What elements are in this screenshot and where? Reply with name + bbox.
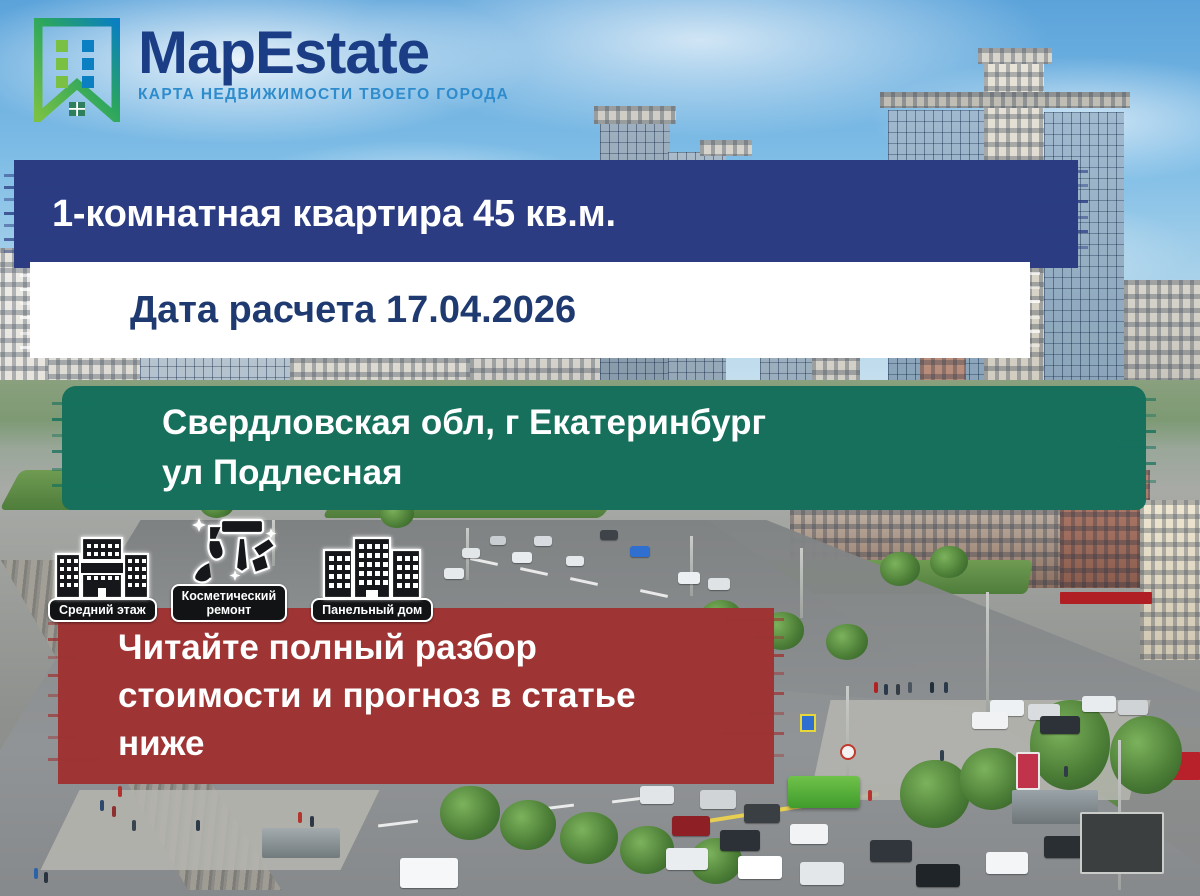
pedestrian	[132, 820, 136, 831]
street-lamp	[800, 548, 803, 618]
pedestrian	[940, 750, 944, 761]
cta-line-2: стоимости и прогноз в статье	[118, 672, 784, 720]
cta-line-1: Читайте полный разбор	[118, 624, 784, 672]
car	[444, 568, 464, 579]
car	[870, 840, 912, 862]
pedestrian	[34, 868, 38, 879]
ad-pillar	[1016, 752, 1040, 790]
car	[630, 546, 650, 557]
car	[1040, 716, 1080, 734]
cta-banner[interactable]: Читайте полный разбор стоимости и прогно…	[48, 608, 784, 784]
pedestrian	[884, 684, 888, 695]
pedestrian	[944, 682, 948, 693]
pedestrian	[908, 682, 912, 693]
brand-name: MapEstate	[138, 24, 509, 82]
title-banner-text: 1-комнатная квартира 45 кв.м.	[4, 193, 1088, 236]
pedestrian	[1064, 766, 1068, 777]
brand-logo-text: MapEstate КАРТА НЕДВИЖИМОСТИ ТВОЕГО ГОРО…	[138, 24, 509, 104]
building-center-roofbox	[700, 140, 752, 156]
tree	[560, 812, 618, 864]
digital-billboard	[1080, 812, 1164, 874]
feature-badges: Средний этаж К	[48, 512, 433, 622]
pedestrian-sign-icon	[800, 714, 816, 732]
car	[790, 824, 828, 844]
pedestrian	[896, 684, 900, 695]
building-right-roof-slab	[880, 92, 1130, 108]
car	[738, 856, 782, 879]
car	[1082, 696, 1116, 712]
bookmark-building-icon	[34, 18, 120, 122]
car	[672, 816, 710, 836]
car	[972, 712, 1008, 729]
buildings-icon	[50, 532, 154, 604]
truck	[400, 858, 458, 888]
car	[800, 862, 844, 885]
car	[666, 848, 708, 870]
building-center-cap	[594, 106, 676, 124]
pedestrian	[118, 786, 122, 797]
car	[490, 536, 506, 545]
car	[708, 578, 730, 590]
badge-label-line-1: Косметический	[182, 589, 277, 603]
pedestrian	[298, 812, 302, 823]
badge-label-line-2: ремонт	[182, 603, 277, 617]
car	[512, 552, 532, 563]
car	[534, 536, 552, 546]
cta-banner-text: Читайте полный разбор стоимости и прогно…	[48, 624, 784, 769]
tree	[500, 800, 556, 850]
car	[462, 548, 480, 558]
cta-line-3: ниже	[118, 720, 784, 768]
pedestrian	[310, 816, 314, 827]
bus-shelter	[262, 828, 340, 858]
badge-panelnyj-dom[interactable]: Панельный дом	[311, 532, 433, 622]
address-banner-text: Свердловская обл, г Екатеринбург ул Подл…	[52, 398, 1156, 497]
badge-srednij-etazh[interactable]: Средний этаж	[48, 532, 157, 622]
tree	[440, 786, 500, 840]
car	[640, 786, 674, 804]
car	[986, 852, 1028, 874]
pedestrian	[868, 790, 872, 801]
building-right-penthouse	[978, 48, 1052, 64]
car	[744, 804, 780, 823]
car	[600, 530, 618, 540]
commercial-strip-corner	[1140, 500, 1200, 660]
shop-sign-right	[1060, 592, 1152, 604]
address-line-2: ул Подлесная	[162, 448, 1156, 498]
pedestrian	[44, 872, 48, 883]
speed-sign-icon	[840, 744, 856, 760]
pedestrian	[196, 820, 200, 831]
tree	[900, 760, 970, 828]
tree	[880, 552, 920, 586]
poster-canvas: MapEstate КАРТА НЕДВИЖИМОСТИ ТВОЕГО ГОРО…	[0, 0, 1200, 896]
panel-house-icon	[318, 532, 426, 604]
brand-logo[interactable]: MapEstate КАРТА НЕДВИЖИМОСТИ ТВОЕГО ГОРО…	[34, 18, 509, 122]
pedestrian	[112, 806, 116, 817]
address-line-1: Свердловская обл, г Екатеринбург	[162, 398, 1156, 448]
tree	[930, 546, 968, 578]
badge-kosmeticheskij-remont[interactable]: Косметический ремонт	[171, 512, 288, 622]
paint-roller-brush-icon	[179, 512, 279, 590]
car	[566, 556, 584, 566]
car	[678, 572, 700, 584]
city-bus	[788, 776, 860, 808]
window-icon	[69, 102, 85, 116]
street-lamp	[986, 592, 989, 722]
car	[700, 790, 736, 809]
car	[916, 864, 960, 887]
date-banner-text: Дата расчета 17.04.2026	[20, 289, 1040, 332]
car	[1118, 700, 1148, 715]
address-banner: Свердловская обл, г Екатеринбург ул Подл…	[52, 386, 1156, 510]
pedestrian	[930, 682, 934, 693]
title-banner: 1-комнатная квартира 45 кв.м.	[4, 160, 1088, 268]
tree	[826, 624, 868, 660]
car	[720, 830, 760, 851]
brand-tagline: КАРТА НЕДВИЖИМОСТИ ТВОЕГО ГОРОДА	[138, 86, 509, 104]
date-banner: Дата расчета 17.04.2026	[20, 262, 1040, 358]
pedestrian	[874, 682, 878, 693]
street-lamp	[690, 536, 693, 596]
pedestrian	[100, 800, 104, 811]
